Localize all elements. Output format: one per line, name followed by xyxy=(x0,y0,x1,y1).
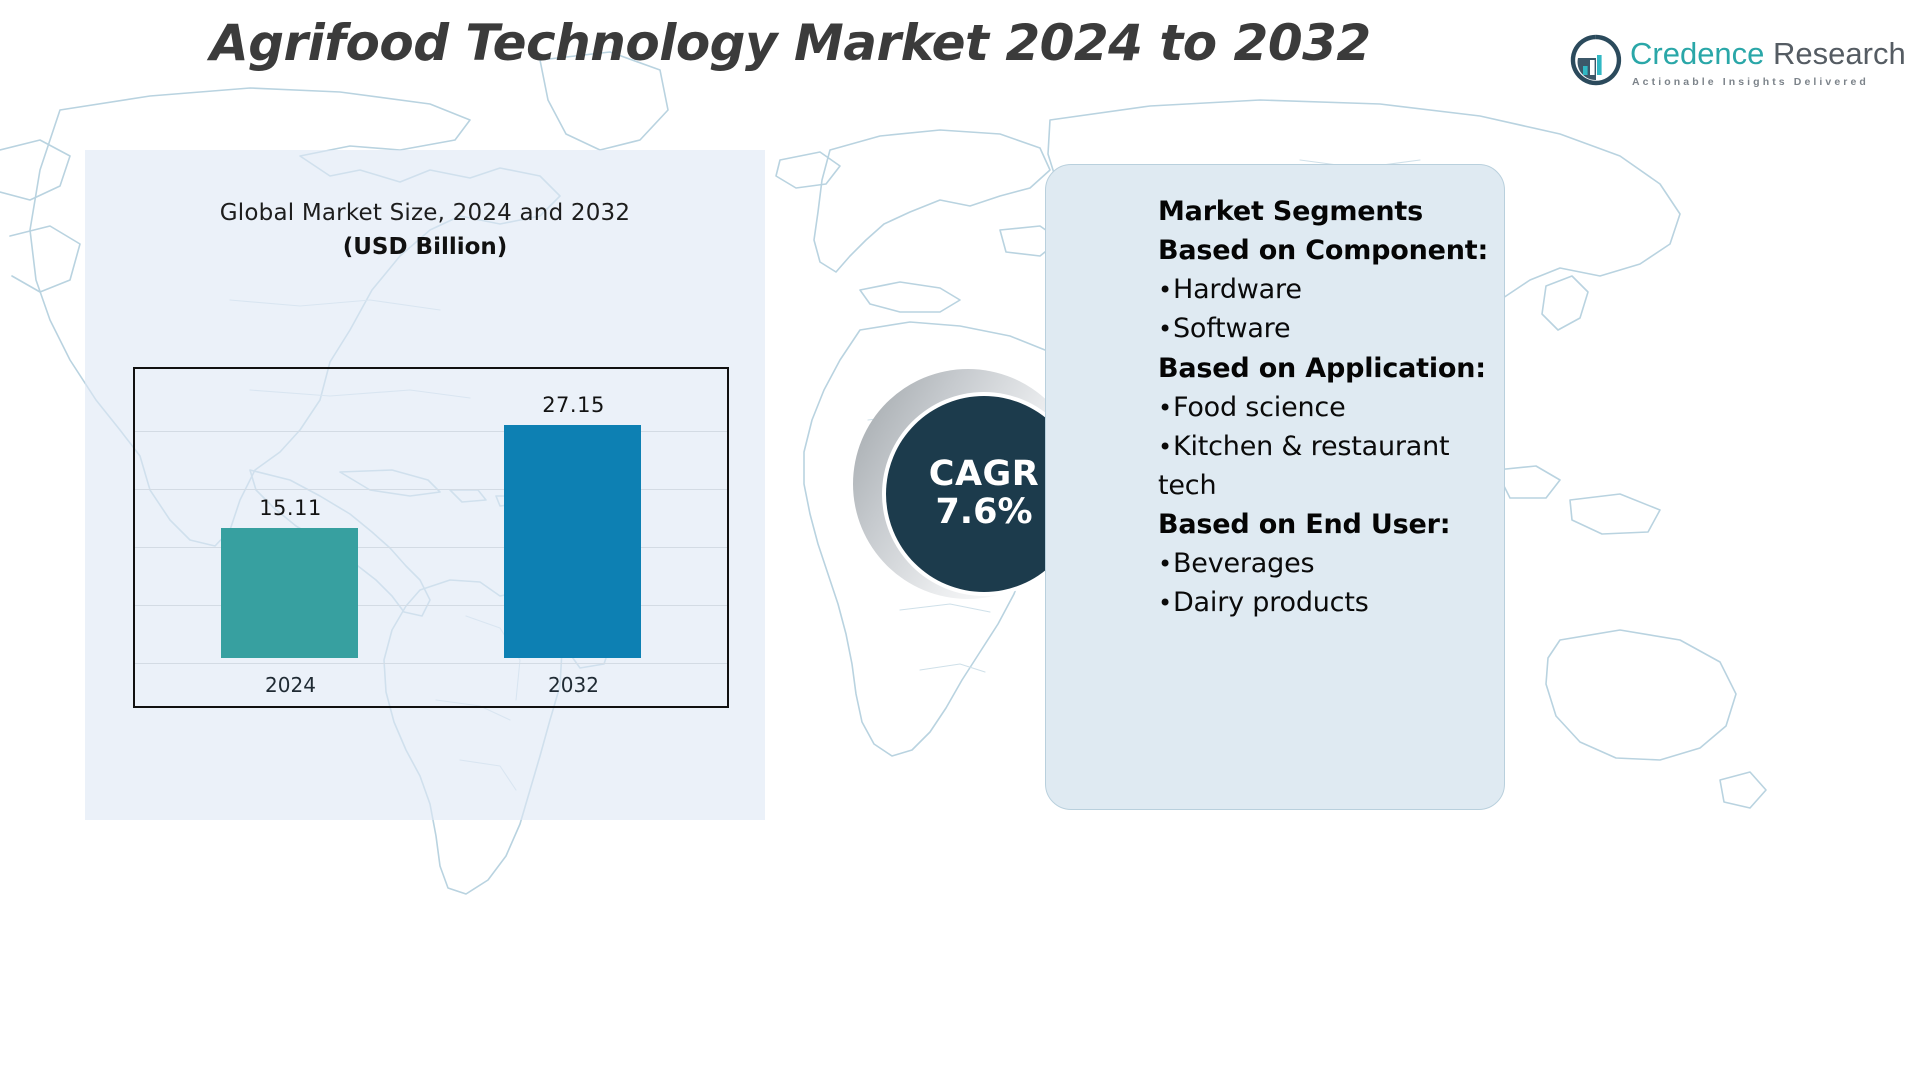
gridline xyxy=(135,663,727,664)
credence-research-logo: Credence Research Actionable Insights De… xyxy=(1570,32,1900,94)
bar-value-label-2024: 15.11 xyxy=(203,496,378,520)
chart-title: Global Market Size, 2024 and 2032 xyxy=(85,200,765,226)
x-axis-label-2024: 2024 xyxy=(203,673,378,697)
segment-item-hardware: •Hardware xyxy=(1158,270,1498,309)
segment-item-beverages: •Beverages xyxy=(1158,544,1498,583)
bullet-icon: • xyxy=(1158,394,1173,422)
segment-item-label: Dairy products xyxy=(1173,587,1369,618)
bar-2024 xyxy=(221,528,358,658)
page-title: Agrifood Technology Market 2024 to 2032 xyxy=(210,14,1310,72)
cagr-label: CAGR xyxy=(929,456,1039,493)
bullet-icon: • xyxy=(1158,550,1173,578)
bullet-icon: • xyxy=(1158,276,1173,304)
segment-item-label: Beverages xyxy=(1173,548,1314,579)
bar-2032 xyxy=(504,425,641,658)
segment-item-label: Hardware xyxy=(1173,274,1302,305)
logo-name-secondary: Research xyxy=(1764,36,1905,71)
cagr-value: 7.6% xyxy=(935,492,1032,532)
bullet-icon: • xyxy=(1158,315,1173,343)
segment-heading-end-user: Based on End User: xyxy=(1158,505,1498,544)
bullet-icon: • xyxy=(1158,433,1173,461)
logo-name-primary: Credence xyxy=(1630,36,1764,71)
segment-item-food-science: •Food science xyxy=(1158,388,1498,427)
bullet-icon: • xyxy=(1158,589,1173,617)
segment-heading-application: Based on Application: xyxy=(1158,349,1498,388)
bar-value-label-2032: 27.15 xyxy=(486,393,661,417)
chart-subtitle: (USD Billion) xyxy=(85,234,765,260)
logo-tagline: Actionable Insights Delivered xyxy=(1632,76,1869,88)
bar-chart-plot-area: 15.11 27.15 2024 2032 xyxy=(133,367,729,708)
segment-heading-component: Market Segments Based on Component: xyxy=(1158,192,1498,270)
segment-item-label: Food science xyxy=(1173,392,1346,423)
segment-item-software: •Software xyxy=(1158,309,1498,348)
segment-item-label: Software xyxy=(1173,313,1290,344)
segment-item-label: Kitchen & restaurant tech xyxy=(1158,431,1449,501)
logo-bar-chart-icon xyxy=(1570,34,1622,86)
market-segments-content: Market Segments Based on Component: •Har… xyxy=(1158,192,1498,623)
segment-item-dairy-products: •Dairy products xyxy=(1158,583,1498,622)
x-axis-label-2032: 2032 xyxy=(486,673,661,697)
segment-item-kitchen-restaurant-tech: •Kitchen & restaurant tech xyxy=(1158,427,1498,505)
infographic-page: Agrifood Technology Market 2024 to 2032 … xyxy=(0,0,1920,1080)
logo-wordmark: Credence Research xyxy=(1630,36,1906,72)
